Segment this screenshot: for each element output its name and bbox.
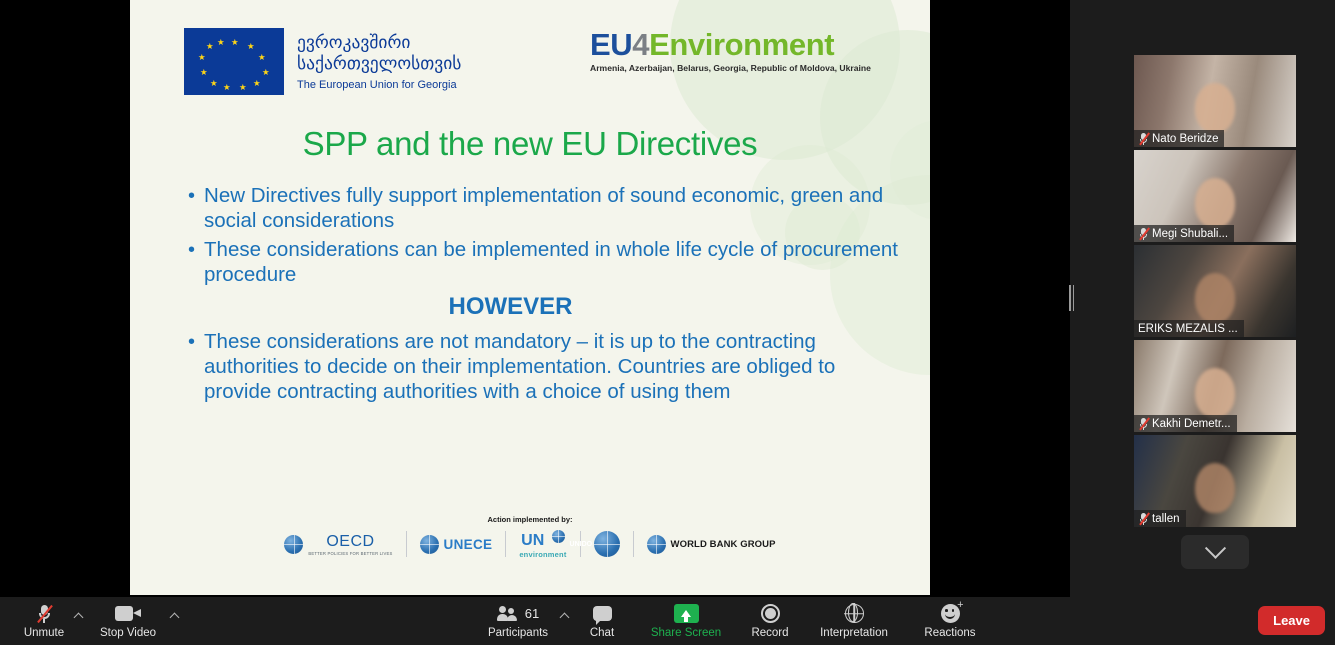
unece-label: UNECE [444, 537, 493, 552]
eu4env-eu: EU [590, 27, 632, 62]
filmstrip-scroll-down-button[interactable] [1181, 535, 1249, 569]
bullet-text: These considerations can be implemented … [204, 237, 898, 287]
participant-name: Nato Beridze [1152, 133, 1218, 145]
participant-tile[interactable]: Nato Beridze [1134, 55, 1296, 147]
share-screen-icon [674, 604, 699, 624]
panel-drag-handle[interactable] [1069, 285, 1076, 311]
participants-label: Participants [488, 627, 548, 639]
record-label: Record [751, 627, 788, 639]
un-environment-tagline: environment [519, 550, 566, 559]
globe-icon [647, 535, 666, 554]
participant-name: tallen [1152, 513, 1180, 525]
eu-flag-icon: ★ ★ ★ ★ ★ ★ ★ ★ ★ ★ ★ ★ [184, 28, 284, 95]
eu4env-four: 4 [632, 27, 649, 62]
bullet-item: • These considerations are not mandatory… [188, 329, 898, 404]
oecd-label: OECD [326, 533, 374, 550]
participant-filmstrip: Nato Beridze Megi Shubali... ERIKS MEZAL… [1134, 55, 1296, 569]
record-button[interactable]: Record [734, 597, 806, 645]
world-bank-label: WORLD BANK GROUP [671, 539, 776, 550]
chat-label: Chat [590, 627, 614, 639]
participants-button[interactable]: 61 Participants [470, 597, 566, 645]
chat-button[interactable]: Chat [566, 597, 638, 645]
participant-tile[interactable]: Megi Shubali... [1134, 150, 1296, 242]
participant-namebar: Megi Shubali... [1134, 225, 1234, 242]
bullet-text: These considerations are not mandatory –… [204, 329, 898, 404]
participant-namebar: ERIKS MEZALIS ... [1134, 320, 1244, 337]
unece-logo: UNECE [407, 529, 506, 559]
bullet-item: • These considerations can be implemente… [188, 237, 898, 287]
unido-logo: UNIDO [581, 529, 633, 559]
bullet-dot-icon: • [188, 329, 195, 404]
eu4env-environment: Environment [649, 27, 834, 62]
participant-tile[interactable]: tallen [1134, 435, 1296, 527]
bullet-dot-icon: • [188, 237, 195, 287]
oecd-tagline: BETTER POLICIES FOR BETTER LIVES [308, 551, 392, 556]
slide-body: • New Directives fully support implement… [188, 183, 898, 408]
unmute-button[interactable]: Unmute [8, 597, 80, 645]
microphone-muted-icon [1138, 512, 1149, 525]
microphone-muted-icon [36, 604, 53, 624]
interpretation-button[interactable]: Interpretation [806, 597, 902, 645]
zoom-meeting-window: Nato Beridze Megi Shubali... ERIKS MEZAL… [0, 0, 1335, 645]
globe-icon [284, 535, 303, 554]
slide-emphasis-text: HOWEVER [188, 293, 833, 321]
globe-icon [845, 604, 864, 624]
un-label: UN [521, 532, 544, 549]
unido-label: UNIDO [570, 541, 593, 548]
globe-icon [420, 535, 439, 554]
leave-button[interactable]: Leave [1258, 606, 1325, 635]
microphone-muted-icon [1138, 132, 1149, 145]
chevron-down-icon [1204, 537, 1225, 558]
participants-count: 61 [525, 606, 539, 621]
record-circle-icon [761, 604, 780, 624]
slide-footer: Action implemented by: OECD BETTER POLIC… [130, 515, 930, 559]
microphone-muted-icon [1138, 227, 1149, 240]
shared-screen-slide: ★ ★ ★ ★ ★ ★ ★ ★ ★ ★ ★ ★ ევროკავშირი საქა… [130, 0, 930, 595]
eu-georgia-logo: ★ ★ ★ ★ ★ ★ ★ ★ ★ ★ ★ ★ ევროკავშირი საქა… [184, 28, 461, 95]
eu-logo-georgian-line1: ევროკავშირი [297, 33, 461, 54]
participant-tile-active-speaker[interactable]: ERIKS MEZALIS ... [1134, 245, 1296, 337]
globe-icon [594, 531, 620, 557]
interpretation-label: Interpretation [820, 627, 888, 639]
chat-bubble-icon [593, 604, 612, 624]
microphone-muted-icon [1138, 417, 1149, 430]
world-bank-group-logo: WORLD BANK GROUP [634, 529, 789, 559]
participant-tile[interactable]: Kakhi Demetr... [1134, 340, 1296, 432]
participant-name: Megi Shubali... [1152, 228, 1228, 240]
unmute-label: Unmute [24, 627, 64, 639]
participant-name: Kakhi Demetr... [1152, 418, 1231, 430]
footer-caption: Action implemented by: [130, 515, 930, 524]
chevron-up-icon[interactable] [170, 613, 180, 623]
participant-namebar: tallen [1134, 510, 1186, 527]
participant-name: ERIKS MEZALIS ... [1138, 323, 1238, 335]
eu4env-countries: Armenia, Azerbaijan, Belarus, Georgia, R… [590, 63, 871, 73]
eu4environment-logo: EU4Environment Armenia, Azerbaijan, Bela… [590, 28, 871, 73]
meeting-toolbar: Unmute Stop Video 61 Participants [0, 597, 1335, 645]
oecd-logo: OECD BETTER POLICIES FOR BETTER LIVES [271, 529, 405, 559]
globe-icon [552, 530, 565, 543]
slide-title: SPP and the new EU Directives [130, 125, 930, 163]
bullet-dot-icon: • [188, 183, 195, 233]
smiley-plus-icon: + [941, 604, 960, 624]
eu-logo-georgian-line2: საქართველოსთვის [297, 54, 461, 75]
participant-namebar: Kakhi Demetr... [1134, 415, 1237, 432]
stop-video-label: Stop Video [100, 627, 156, 639]
share-screen-button[interactable]: Share Screen [638, 597, 734, 645]
people-icon: 61 [497, 604, 539, 624]
camera-icon [115, 604, 141, 624]
reactions-label: Reactions [924, 627, 975, 639]
reactions-button[interactable]: + Reactions [902, 597, 998, 645]
participant-namebar: Nato Beridze [1134, 130, 1224, 147]
bullet-item: • New Directives fully support implement… [188, 183, 898, 233]
eu-logo-english: The European Union for Georgia [297, 79, 461, 91]
bullet-text: New Directives fully support implementat… [204, 183, 898, 233]
stop-video-button[interactable]: Stop Video [80, 597, 176, 645]
share-screen-label: Share Screen [651, 627, 721, 639]
